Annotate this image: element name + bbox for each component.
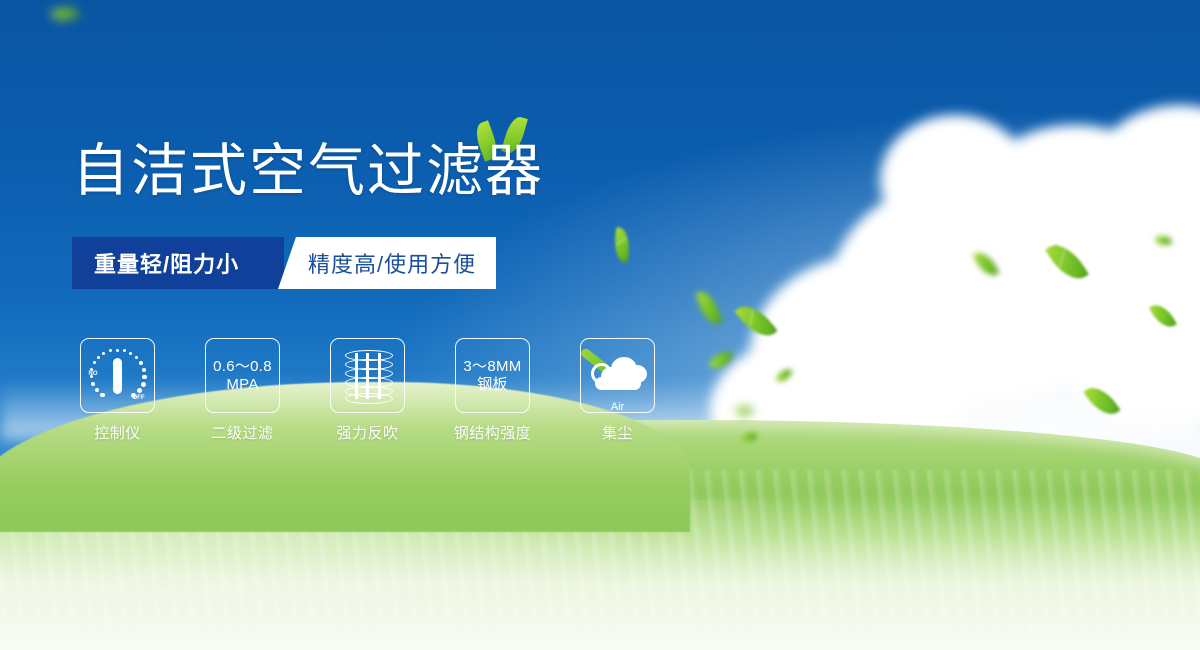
feature-item-control[interactable]: NO OFF [80,338,155,443]
feature-item-dust[interactable]: Air 集尘 [580,338,655,443]
gauge-graphic: NO OFF [90,349,146,403]
steel-line-1: 3～8MM [463,358,521,376]
feature-list: NO OFF [80,338,655,443]
pressure-line-2: MPA [226,376,258,394]
subtitle-left: 重量轻/阻力小 [72,237,284,289]
gauge-needle [113,358,122,394]
subtitle-right: 精度高/使用方便 [278,237,496,289]
air-cloud-graphic: Air [589,351,647,401]
feature-item-blowback[interactable]: 强力反吹 [330,338,405,443]
promo-banner: 自洁式空气过滤器 重量轻/阻力小 精度高/使用方便 NO OFF [0,0,1200,650]
subtitle-bar: 重量轻/阻力小 精度高/使用方便 [72,237,496,289]
feature-item-steel[interactable]: 3～8MM 钢板 钢结构强度 [455,338,530,443]
feature-item-pressure[interactable]: 0.6～0.8 MPA 二级过滤 [205,338,280,443]
gauge-icon: NO OFF [80,338,155,413]
feature-label: 二级过滤 [211,422,273,443]
feature-label: 集尘 [602,422,633,443]
pressure-line-1: 0.6～0.8 [213,358,272,376]
feature-label: 强力反吹 [336,422,398,443]
air-cloud-icon: Air [580,338,655,413]
feature-label: 控制仪 [94,422,141,443]
steel-line-2: 钢板 [477,376,508,394]
coil-graphic [345,350,391,402]
floating-leaf [1055,245,1057,247]
page-title: 自洁式空气过滤器 [72,142,544,202]
steel-plate-text-icon: 3～8MM 钢板 [455,338,530,413]
pressure-text-icon: 0.6～0.8 MPA [205,338,280,413]
filter-coil-icon [330,338,405,413]
air-label: Air [589,401,647,413]
feature-label: 钢结构强度 [454,422,532,443]
